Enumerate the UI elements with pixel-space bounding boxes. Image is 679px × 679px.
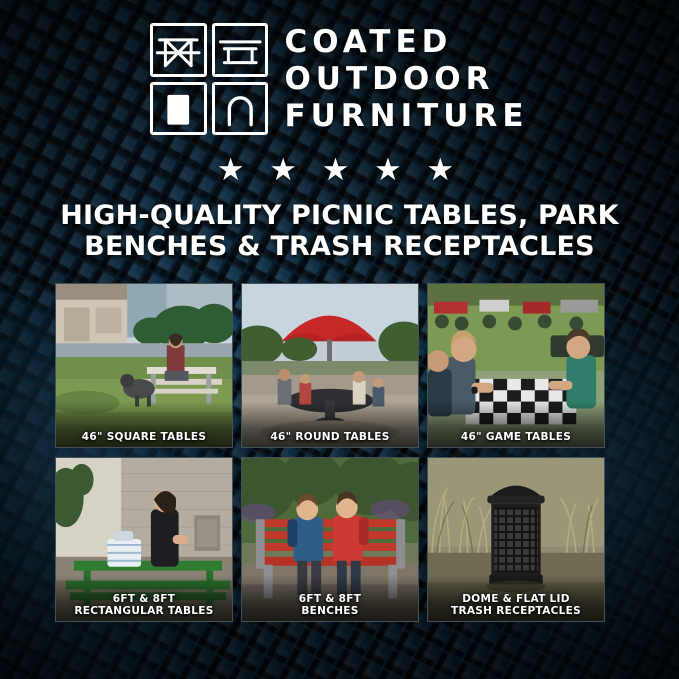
product-caption: DOME & FLAT LID TRASH RECEPTACLES bbox=[428, 593, 604, 617]
logo-mark bbox=[150, 23, 268, 135]
product-card-trash-receptacles[interactable]: DOME & FLAT LID TRASH RECEPTACLES bbox=[427, 457, 605, 622]
product-caption: 46" GAME TABLES bbox=[428, 431, 604, 443]
product-caption: 46" ROUND TABLES bbox=[242, 431, 418, 443]
product-poster: COATED OUTDOOR FURNITURE ★ ★ ★ ★ ★ HIGH-… bbox=[0, 0, 679, 679]
product-caption: 46" SQUARE TABLES bbox=[56, 431, 232, 443]
brand-word-2: OUTDOOR bbox=[284, 61, 528, 97]
product-card-rectangular-tables[interactable]: 6FT & 8FT RECTANGULAR TABLES bbox=[55, 457, 233, 622]
picnic-table-icon bbox=[150, 23, 207, 77]
brand-word-1: COATED bbox=[284, 24, 528, 60]
product-card-benches[interactable]: 6FT & 8FT BENCHES bbox=[241, 457, 419, 622]
headline-line-1: HIGH-QUALITY PICNIC TABLES, PARK bbox=[60, 200, 619, 231]
page-title: HIGH-QUALITY PICNIC TABLES, PARK BENCHES… bbox=[60, 200, 619, 262]
product-card-game-tables[interactable]: 46" GAME TABLES bbox=[427, 283, 605, 448]
product-card-square-tables[interactable]: 46" SQUARE TABLES bbox=[55, 283, 233, 448]
brand-wordmark: COATED OUTDOOR FURNITURE bbox=[284, 24, 528, 134]
brand-word-3: FURNITURE bbox=[284, 98, 528, 134]
brand-logo: COATED OUTDOOR FURNITURE bbox=[150, 20, 528, 138]
headline-line-2: BENCHES & TRASH RECEPTACLES bbox=[60, 231, 619, 262]
star-rating: ★ ★ ★ ★ ★ bbox=[217, 154, 462, 186]
arch-bench-icon bbox=[212, 82, 269, 136]
product-caption: 6FT & 8FT BENCHES bbox=[242, 593, 418, 617]
product-card-round-tables[interactable]: 46" ROUND TABLES bbox=[241, 283, 419, 448]
trash-receptacle-icon bbox=[150, 82, 207, 136]
product-grid: 46" SQUARE TABLES bbox=[55, 283, 625, 622]
poster-header: COATED OUTDOOR FURNITURE ★ ★ ★ ★ ★ HIGH-… bbox=[0, 20, 679, 262]
park-bench-icon bbox=[212, 23, 269, 77]
product-caption: 6FT & 8FT RECTANGULAR TABLES bbox=[56, 593, 232, 617]
